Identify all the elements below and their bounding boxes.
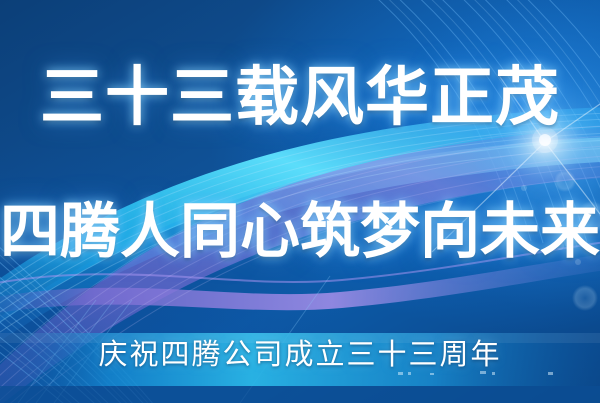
bottom-strip — [0, 386, 600, 403]
celebration-banner: 三十三载风华正茂 四腾人同心筑梦向未来 庆祝四腾公司成立三十三周年 — [0, 0, 600, 403]
subtitle-text: 庆祝四腾公司成立三十三周年 — [0, 337, 600, 373]
headline-line-1: 三十三载风华正茂 — [0, 61, 600, 133]
headline-line-2: 四腾人同心筑梦向未来 — [0, 198, 600, 266]
